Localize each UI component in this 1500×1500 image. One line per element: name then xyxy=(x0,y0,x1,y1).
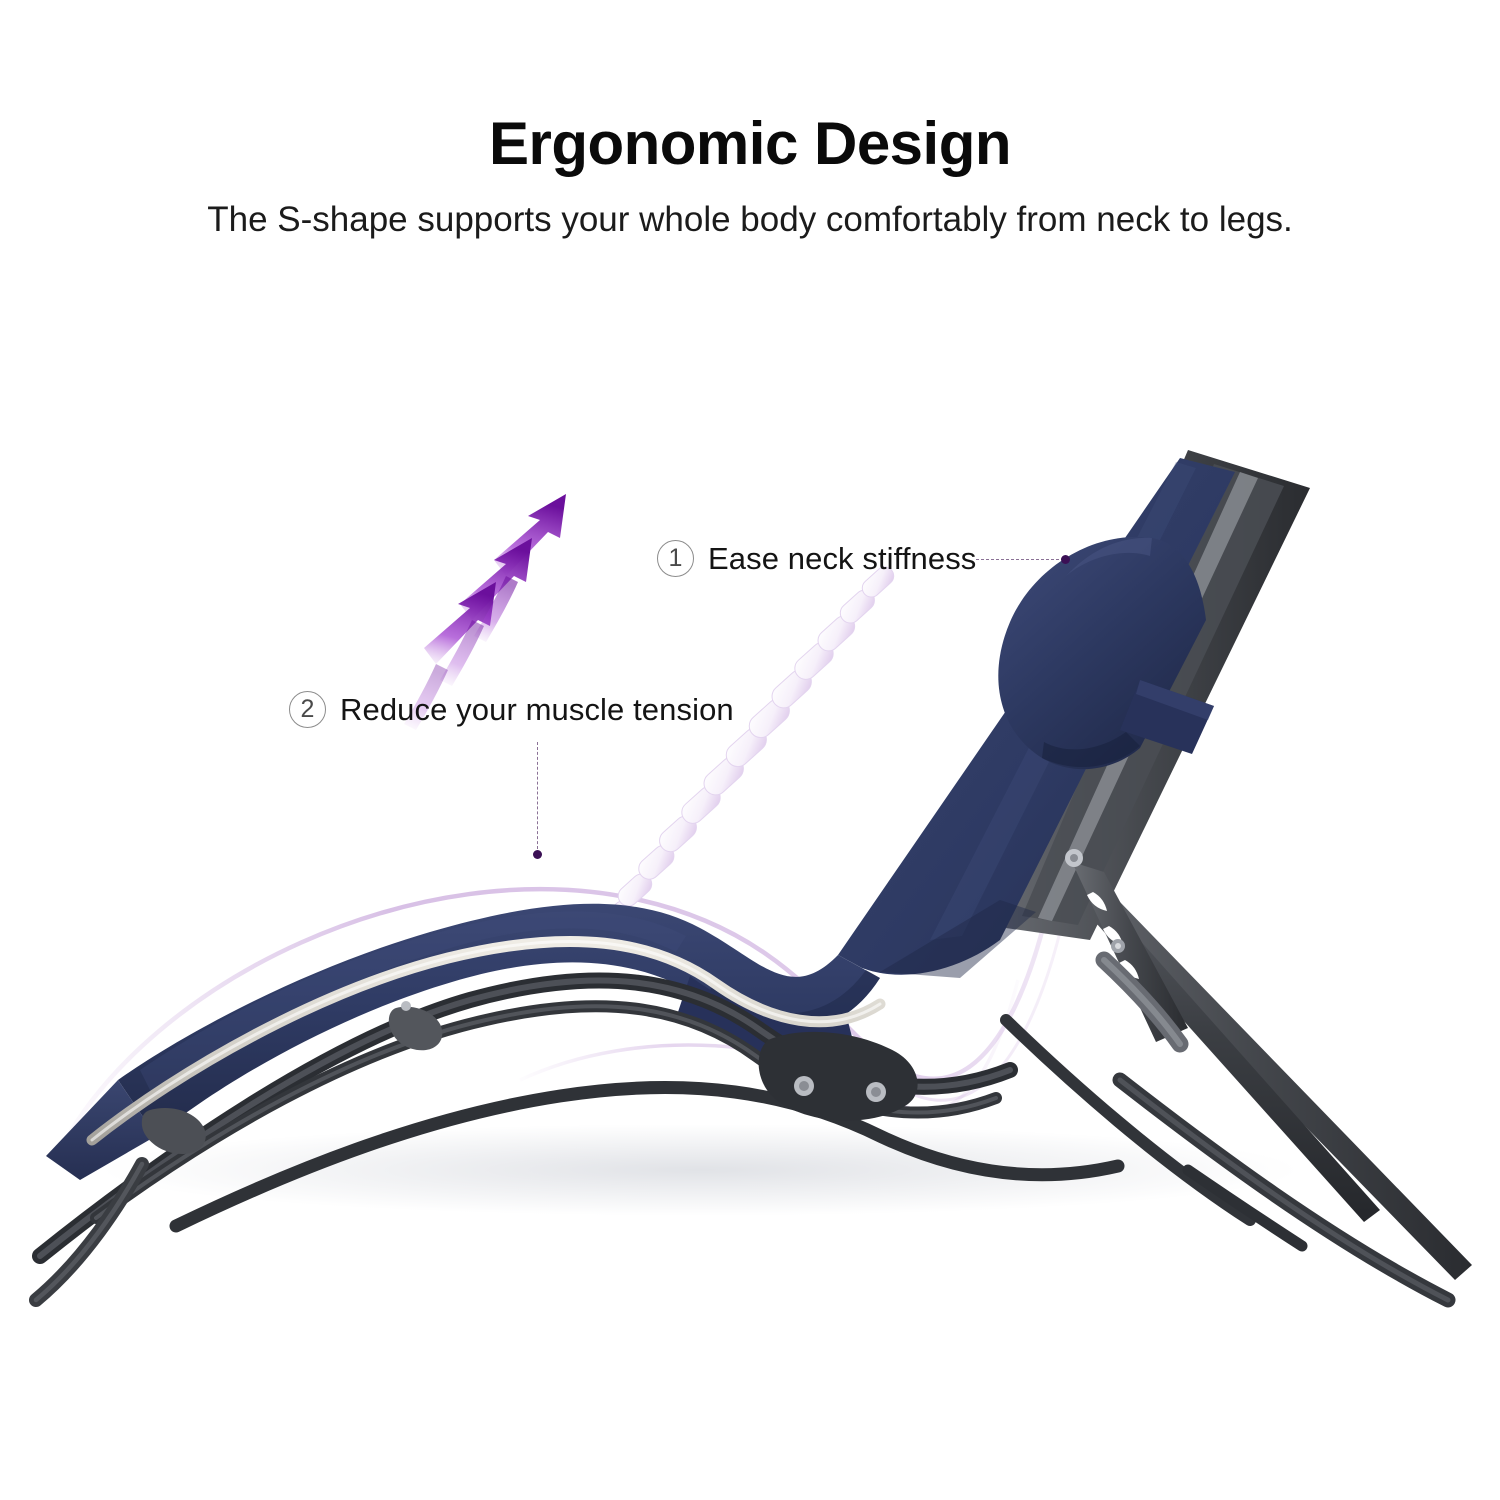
callout-1-badge: 1 xyxy=(657,540,694,577)
product-illustration xyxy=(0,380,1500,1380)
header: Ergonomic Design The S-shape supports yo… xyxy=(0,0,1500,241)
infographic-page: Ergonomic Design The S-shape supports yo… xyxy=(0,0,1500,1500)
callout-2-label: Reduce your muscle tension xyxy=(340,692,734,728)
spine-vertebrae-graphic xyxy=(597,563,898,935)
callout-1: 1 Ease neck stiffness xyxy=(657,540,976,577)
callout-2-badge: 2 xyxy=(289,691,326,728)
recline-adjuster[interactable] xyxy=(1072,862,1188,1044)
leader-line-2 xyxy=(537,742,538,854)
callout-2: 2 Reduce your muscle tension xyxy=(289,691,734,728)
head-pillow xyxy=(998,537,1214,769)
leader-dot-2 xyxy=(533,850,542,859)
front-foot-bracket xyxy=(142,1108,206,1154)
page-title: Ergonomic Design xyxy=(0,0,1500,175)
page-subtitle: The S-shape supports your whole body com… xyxy=(0,175,1500,241)
backrest-pivot-bolt xyxy=(1065,849,1083,867)
callout-1-label: Ease neck stiffness xyxy=(708,541,976,577)
leader-line-1 xyxy=(976,559,1064,560)
chaise-lounge-chair-graphic xyxy=(0,380,1500,1380)
leader-dot-1 xyxy=(1061,555,1070,564)
